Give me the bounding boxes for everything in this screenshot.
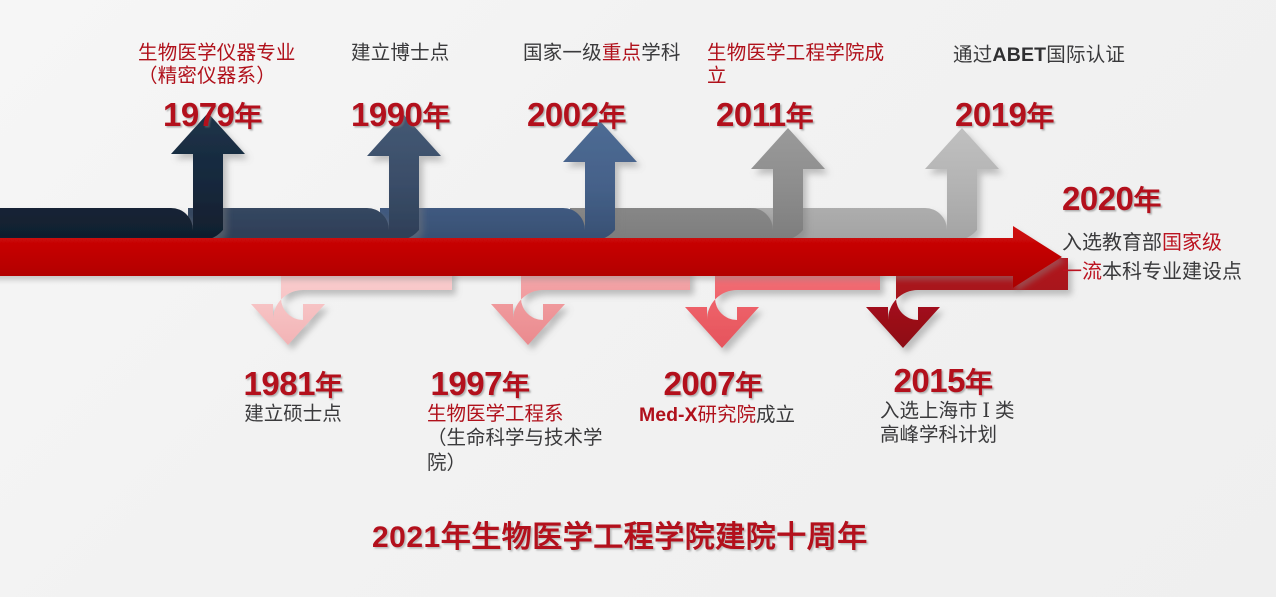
caption-2020: 入选教育部国家级 一流本科专业建设点 bbox=[1062, 229, 1276, 287]
caption-2019: 通过ABET国际认证 bbox=[953, 44, 1183, 67]
caption-1990: 建立博士点 bbox=[351, 42, 521, 65]
year-1990: 1990年 bbox=[351, 96, 450, 135]
year-1979: 1979年 bbox=[163, 96, 262, 135]
caption-1997: 生物医学工程系 （生命科学与技术学 院） bbox=[427, 403, 627, 476]
caption-2015: 入选上海市 Ⅰ 类 高峰学科计划 bbox=[880, 400, 1060, 449]
year-1981: 1981年 bbox=[228, 365, 358, 404]
caption-2011: 生物医学工程学院成 立 bbox=[707, 42, 907, 88]
caption-1981: 建立硕士点 bbox=[218, 403, 368, 427]
caption-2007: Med-X研究院成立 bbox=[639, 403, 849, 428]
year-2007: 2007年 bbox=[648, 365, 778, 404]
year-2019: 2019年 bbox=[955, 96, 1054, 135]
year-2020: 2020年 bbox=[1062, 180, 1161, 219]
caption-2002: 国家一级重点学科 bbox=[523, 42, 713, 65]
year-1997: 1997年 bbox=[415, 365, 545, 404]
year-2015: 2015年 bbox=[878, 362, 1008, 401]
year-2011: 2011年 bbox=[716, 96, 813, 135]
year-2002: 2002年 bbox=[527, 96, 626, 135]
timeline-infographic: 生物医学仪器专业 （精密仪器系） 1979年 建立博士点 1990年 国家一级重… bbox=[0, 0, 1276, 597]
timeline-arrows-graphic bbox=[0, 0, 1276, 597]
caption-1979: 生物医学仪器专业 （精密仪器系） bbox=[138, 42, 328, 88]
footer-anniversary-title: 2021年生物医学工程学院建院十周年 bbox=[372, 512, 868, 556]
